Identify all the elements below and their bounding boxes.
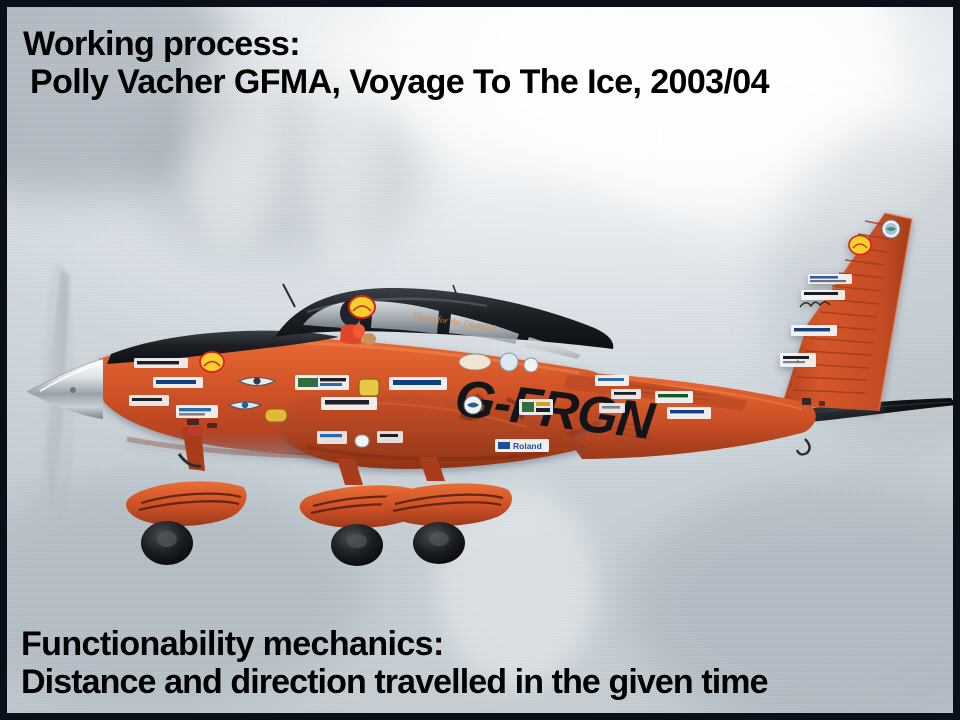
cowl-vent-1 — [187, 419, 199, 425]
svg-text:Roland: Roland — [513, 441, 542, 451]
vertical-fin — [780, 213, 912, 411]
decal-low-round — [355, 435, 369, 447]
nav-light — [186, 426, 204, 436]
expedition-badge — [882, 220, 900, 238]
slide-canvas: Flying for the Disabled — [0, 0, 960, 720]
tail-tiedown — [797, 439, 810, 454]
decal-generic-1 — [176, 405, 218, 418]
decal-oval-1 — [459, 354, 491, 370]
decal-low-1 — [317, 431, 347, 444]
decal-hex-yellow — [359, 379, 379, 396]
decal-round-yellow — [265, 409, 287, 422]
shell-logo-roof — [349, 296, 375, 318]
shell-logo-fin — [849, 236, 871, 255]
aircraft-illustration: Flying for the Disabled — [7, 7, 960, 720]
decal-circle-2 — [524, 358, 538, 372]
shell-logo-cowl — [200, 352, 224, 372]
cowl-vent-2 — [207, 423, 217, 428]
main-landing-gear-right — [382, 457, 512, 564]
antenna — [283, 284, 295, 307]
decal-circle-1 — [500, 353, 518, 371]
nose-wheel-fairing — [126, 481, 247, 526]
